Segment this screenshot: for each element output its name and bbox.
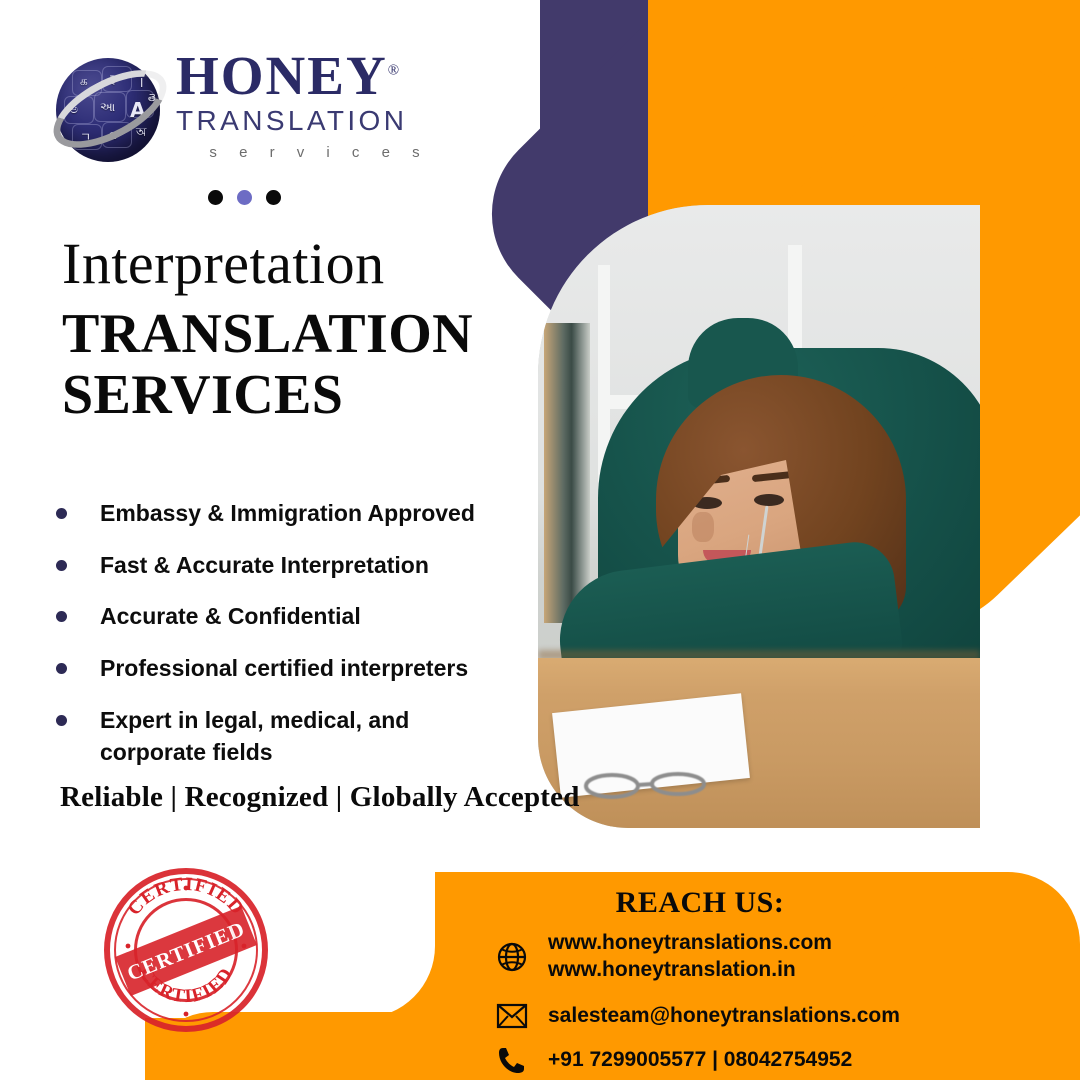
bullet-dot-icon [56,560,67,571]
dot-1-icon [208,190,223,205]
logo-tertiary: s e r v i c e s [176,144,456,161]
phone-icon [492,1040,532,1080]
bullet-dot-icon [56,611,67,622]
globe-logo-icon: க ह ا ಅ આ A తె ㄱ ഒ অ [52,54,164,166]
contact-content: REACH US: www.honeytranslations.com www.… [420,872,1080,1080]
logo-subtitle: TRANSLATION [176,107,456,135]
headline-bold-1: TRANSLATION [62,302,532,366]
logo-title: HONEY® [176,48,456,103]
books [544,323,590,623]
headline-bold-2: SERVICES [62,363,532,427]
bullet-dot-icon [56,508,67,519]
logo-wordmark: HONEY® TRANSLATION s e r v i c e s [176,48,456,161]
feature-label: Professional certified interpreters [100,653,468,685]
eyeglasses [578,770,718,800]
envelope-icon [492,996,532,1036]
bullet-dot-icon [56,715,67,726]
list-item: Accurate & Confidential [56,601,526,633]
bullet-dot-icon [56,663,67,674]
feature-label: Fast & Accurate Interpretation [100,550,429,582]
globe-glyph: অ [136,124,146,144]
headline-script: Interpretation [62,234,532,294]
contact-row-email[interactable]: salesteam@honeytranslations.com [492,996,900,1036]
dot-3-icon [266,190,281,205]
list-item: Professional certified interpreters [56,653,526,685]
dot-2-icon [237,190,252,205]
list-item: Expert in legal, medical, and corporate … [56,705,526,768]
logo-title-text: HONEY [176,45,388,106]
feature-label: Expert in legal, medical, and corporate … [100,705,440,768]
feature-label: Embassy & Immigration Approved [100,498,475,530]
phone-numbers[interactable]: +91 7299005577 | 08042754952 [548,1047,852,1074]
eye-right [754,494,784,506]
registered-mark-icon: ® [388,63,401,79]
contact-heading: REACH US: [420,886,1080,920]
brand-logo: க ह ا ಅ આ A తె ㄱ ഒ অ HONEY® TRANSLATION … [52,48,452,178]
hero-photo-interpreter [538,205,980,828]
globe-icon [492,937,532,977]
certified-stamp-badge: CERTIFIED CERTIFIED CERTIFIED [104,868,268,1032]
decorative-dots [208,190,281,205]
features-list: Embassy & Immigration Approved Fast & Ac… [56,498,526,788]
headline-block: Interpretation TRANSLATION SERVICES [62,234,532,427]
email-address[interactable]: salesteam@honeytranslations.com [548,1003,900,1030]
poster-canvas: க ह ا ಅ આ A తె ㄱ ഒ অ HONEY® TRANSLATION … [0,0,1080,1080]
tagline: Reliable | Recognized | Globally Accepte… [60,781,580,814]
feature-label: Accurate & Confidential [100,601,361,633]
contact-row-website[interactable]: www.honeytranslations.com www.honeytrans… [492,930,832,984]
website-links[interactable]: www.honeytranslations.com www.honeytrans… [548,930,832,984]
nose [692,512,714,542]
contact-row-phone[interactable]: +91 7299005577 | 08042754952 [492,1040,852,1080]
list-item: Fast & Accurate Interpretation [56,550,526,582]
list-item: Embassy & Immigration Approved [56,498,526,530]
website-link-1[interactable]: www.honeytranslations.com [548,931,832,954]
website-link-2[interactable]: www.honeytranslation.in [548,958,796,981]
